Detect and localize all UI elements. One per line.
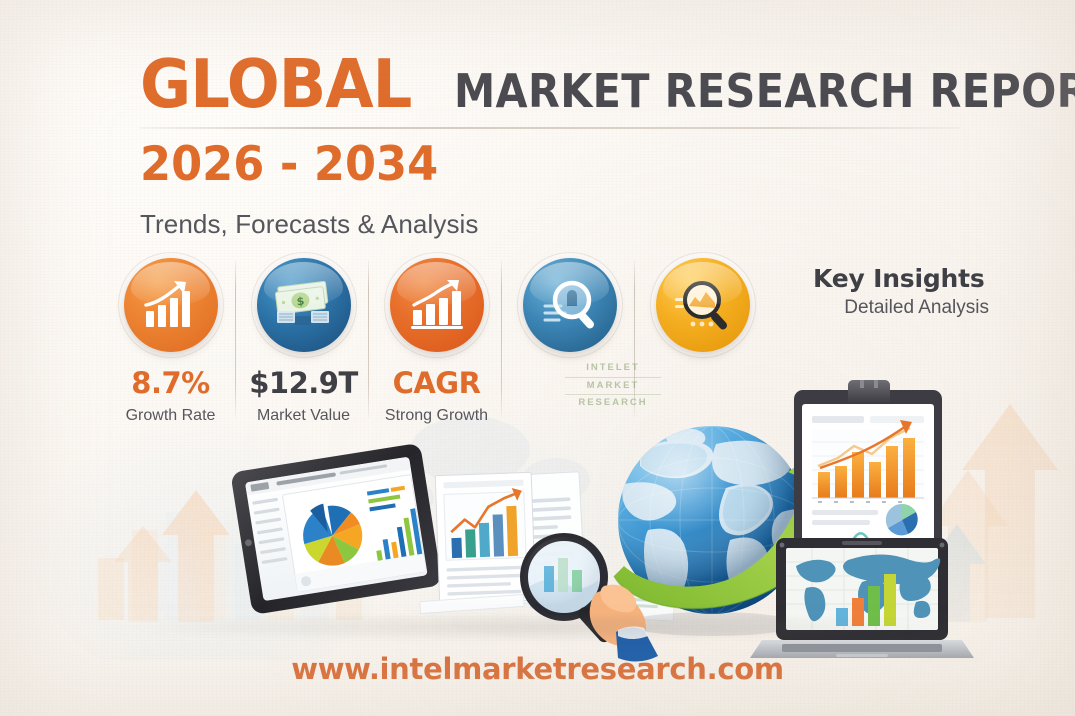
magnifier-chart-icon [656, 258, 750, 352]
stat-research-magnifier[interactable] [503, 258, 636, 352]
report-banner: GLOBAL MARKET RESEARCH REPORT 2026 - 203… [0, 0, 1075, 716]
magnifier-chart-glyph [671, 276, 735, 334]
subtitle: Trends, Forecasts & Analysis [140, 209, 970, 240]
insights-subtitle: Detailed Analysis [813, 297, 989, 319]
key-insights-text: Key Insights Detailed Analysis [813, 264, 989, 319]
bar-chart-growth-glyph [141, 277, 201, 333]
title-rest: MARKET RESEARCH REPORT [454, 68, 1075, 114]
magnifier-document-glyph [539, 276, 601, 334]
bar-chart-growth-icon [124, 258, 218, 352]
header: GLOBAL MARKET RESEARCH REPORT 2026 - 203… [140, 52, 970, 240]
page-title: GLOBAL MARKET RESEARCH REPORT [140, 52, 970, 118]
website-url[interactable]: www.intelmarketresearch.com [0, 652, 1075, 686]
stat-key-insights[interactable] [636, 258, 769, 352]
bar-chart-arrow-icon [390, 258, 484, 352]
tablet-pie-bar-dashboard [230, 443, 442, 615]
title-divider [140, 127, 960, 129]
watermark-line-1: INTELET [565, 360, 661, 378]
ground-shadow [120, 612, 950, 642]
money-banknote-icon: $ [257, 258, 351, 352]
insights-title: Key Insights [813, 264, 989, 293]
money-banknote-glyph: $ [273, 280, 335, 330]
bar-chart-arrow-glyph [407, 278, 467, 332]
title-highlight: GLOBAL [140, 52, 411, 118]
svg-text:$: $ [295, 294, 304, 308]
report-years: 2026 - 2034 [140, 137, 929, 192]
magnifier-document-icon [523, 258, 617, 352]
